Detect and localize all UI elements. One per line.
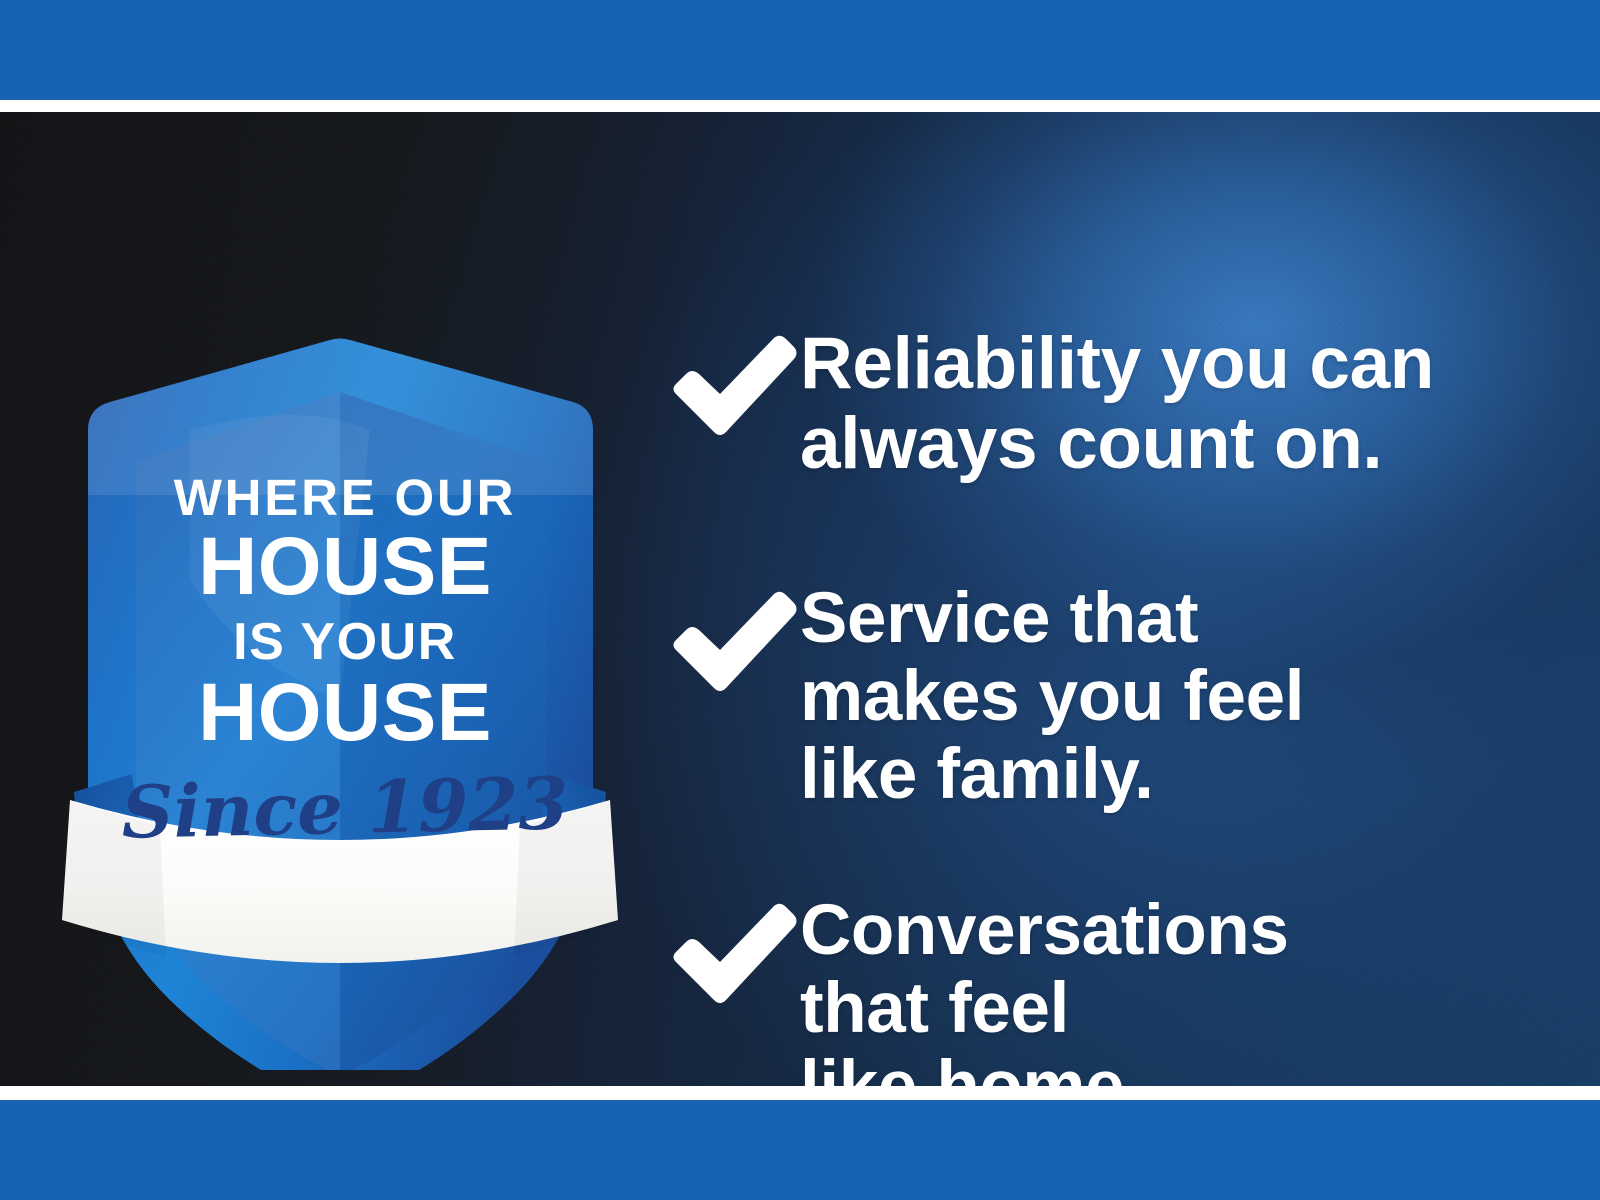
list-item-line: Reliability you can [800,324,1528,404]
list-item-line: Conversations [800,892,1528,970]
list-item-line: makes you feel [800,658,1528,736]
list-item: Conversations that feel like home. [668,892,1528,1086]
checkmark-icon [668,332,800,442]
shield-graphic [40,280,625,1070]
list-item-line: like home. [800,1048,1528,1086]
list-item-text: Service that makes you feel like family. [800,580,1528,814]
list-item: Reliability you can always count on. [668,324,1528,485]
list-item-line: Service that [800,580,1528,658]
bottom-brand-bar [0,1100,1600,1200]
shield-badge: WHERE OUR HOUSE IS YOUR HOUSE Since 1923 [40,280,625,1070]
list-item-line: always count on. [800,404,1528,484]
list-item-line: that feel [800,970,1528,1048]
top-brand-bar [0,0,1600,100]
checkmark-icon [668,588,800,698]
main-panel: WHERE OUR HOUSE IS YOUR HOUSE Since 1923… [0,112,1600,1086]
list-item: Service that makes you feel like family. [668,580,1528,814]
promo-banner: WHERE OUR HOUSE IS YOUR HOUSE Since 1923… [0,0,1600,1200]
list-item-line: like family. [800,736,1528,814]
list-item-text: Conversations that feel like home. [800,892,1528,1086]
list-item-text: Reliability you can always count on. [800,324,1528,485]
checkmark-icon [668,900,800,1010]
